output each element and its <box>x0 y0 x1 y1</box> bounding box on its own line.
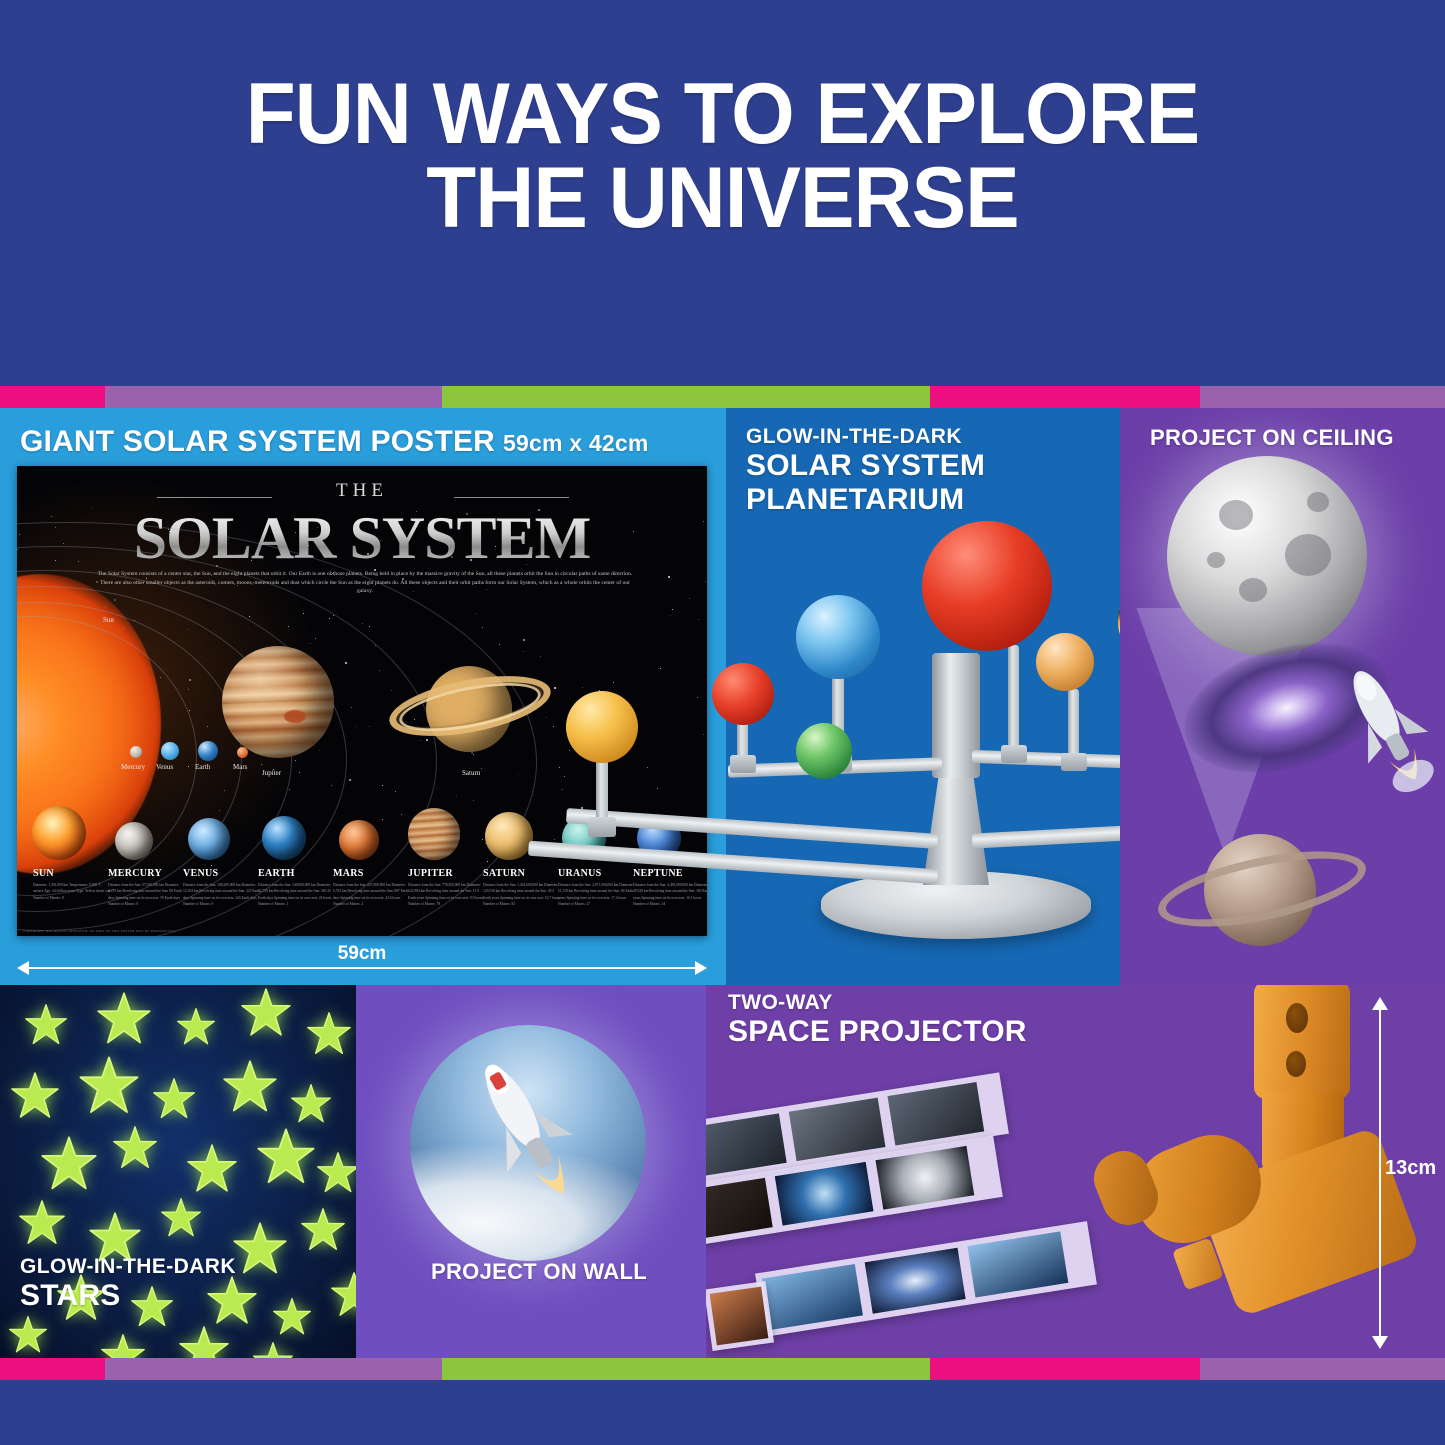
poster-panel-dimensions: 59cm x 42cm <box>503 430 648 456</box>
glow-star-icon <box>96 991 152 1047</box>
moon-crater <box>1219 500 1253 530</box>
star <box>482 627 483 628</box>
panel-space-projector: TWO-WAY SPACE PROJECTOR <box>706 985 1445 1358</box>
planet-card-description: Distance from the Sun: 2,871,000,000 km … <box>558 882 636 907</box>
star <box>475 613 476 614</box>
planet-card-description: Distance from the Sun: 778,500,000 km Di… <box>408 882 486 907</box>
model-planet-sun <box>922 521 1052 651</box>
stars-panel-header: GLOW-IN-THE-DARK STARS <box>20 1255 236 1313</box>
slide-cell <box>876 1146 975 1210</box>
stripe-segment <box>930 1358 1200 1380</box>
glow-star-icon <box>8 1315 48 1355</box>
slide-cell <box>706 1113 787 1176</box>
stripe-segment <box>105 386 442 408</box>
ceiling-moon-image <box>1167 456 1367 656</box>
glow-star-icon <box>232 1221 288 1277</box>
glow-star-icon <box>222 1059 278 1115</box>
planet-thumbnail <box>262 816 306 860</box>
slide-cell <box>967 1231 1068 1297</box>
model-planet-saturn <box>566 691 638 763</box>
product-collage: GIANT SOLAR SYSTEM POSTER59cm x 42cm THE… <box>0 408 1445 1358</box>
star <box>613 682 614 683</box>
model-planet-earth <box>796 595 880 679</box>
planet-thumbnail <box>188 818 230 860</box>
stripe-segment <box>0 386 105 408</box>
poster-copyright: COPYRIGHT. ALL RIGHTS RESERVED. NO PART … <box>23 929 176 933</box>
star <box>499 644 500 645</box>
ceiling-panel-title: PROJECT ON CEILING <box>1150 425 1394 451</box>
stripe-segment <box>442 386 930 408</box>
glow-star-icon <box>330 1271 356 1319</box>
glow-star-icon <box>186 1143 238 1195</box>
poster-planet-earth <box>198 741 218 761</box>
stripe-segment <box>0 1358 105 1380</box>
poster-label-mercury: Mercury <box>121 763 145 771</box>
projector-dial <box>1286 1003 1308 1033</box>
measure-line <box>1379 1007 1381 1339</box>
glow-star-icon <box>252 1341 294 1358</box>
glow-star-icon <box>10 1071 60 1121</box>
stars-eyebrow: GLOW-IN-THE-DARK <box>20 1255 236 1279</box>
planet-thumbnail <box>115 822 153 860</box>
stripe-segment <box>930 386 1200 408</box>
model-rod <box>1008 645 1019 757</box>
glow-star-icon <box>178 1325 230 1358</box>
planetarium-panel-header: GLOW-IN-THE-DARK SOLAR SYSTEM PLANETARIU… <box>746 425 985 516</box>
single-slide <box>706 1281 774 1351</box>
slide-cell <box>762 1264 863 1330</box>
star <box>582 687 583 688</box>
stripe-segment <box>1200 1358 1445 1380</box>
star <box>540 656 541 657</box>
glow-star-icon <box>24 1003 68 1047</box>
stripe-segment <box>1200 386 1445 408</box>
glow-star-icon <box>272 1297 312 1337</box>
model-planet-uranus <box>796 723 852 779</box>
glow-star-icon <box>300 1207 346 1253</box>
model-joint <box>1061 753 1087 771</box>
panel-solar-system-planetarium: GLOW-IN-THE-DARK SOLAR SYSTEM PLANETARIU… <box>726 408 1120 985</box>
star <box>562 789 563 790</box>
poster-label-earth: Earth <box>195 763 210 771</box>
model-joint <box>1001 745 1027 763</box>
wall-shuttle-icon <box>410 1025 646 1261</box>
poster-panel-header: GIANT SOLAR SYSTEM POSTER59cm x 42cm <box>20 425 648 459</box>
planet-card-description: Diameter: 1,392,000 km Temperature: 5,50… <box>33 882 111 901</box>
panel-project-on-wall: PROJECT ON WALL <box>356 985 706 1358</box>
glow-star-icon <box>78 1055 140 1117</box>
glow-star-icon <box>306 1011 352 1057</box>
shuttle-icon <box>1325 663 1445 793</box>
stripe-segment <box>105 1358 442 1380</box>
model-planet-mars <box>712 663 774 725</box>
glow-star-icon <box>176 1007 216 1047</box>
poster-planet-mercury <box>130 746 142 758</box>
planet-card-name: MARS <box>333 868 364 879</box>
poster-planet-jupiter <box>222 646 334 758</box>
star <box>559 767 560 768</box>
planet-card-description: Distance from the Sun: 108,200,000 km Di… <box>183 882 261 907</box>
planetarium-title-line-2: PLANETARIUM <box>746 483 985 517</box>
poster-planet-venus <box>161 742 179 760</box>
planet-thumbnail <box>339 820 379 860</box>
projector-height-value: 13cm <box>1385 1157 1436 1180</box>
poster-width-value: 59cm <box>17 943 707 965</box>
wall-panel-title: PROJECT ON WALL <box>431 1259 647 1285</box>
panel-project-on-ceiling: PROJECT ON CEILING <box>1120 408 1445 985</box>
planet-thumbnail <box>485 812 533 860</box>
moon-crater <box>1207 552 1225 568</box>
star <box>553 726 554 727</box>
star <box>564 776 565 777</box>
stripe-segment <box>442 1358 930 1380</box>
projector-panel-header: TWO-WAY SPACE PROJECTOR <box>728 991 1027 1049</box>
glow-star-icon <box>40 1135 98 1193</box>
planet-card-name: URANUS <box>558 868 601 879</box>
planet-card-description: Distance from the Sun: 149,600,000 km Di… <box>258 882 336 907</box>
planetarium-title-line-1: SOLAR SYSTEM <box>746 449 985 483</box>
projector-eyebrow: TWO-WAY <box>728 991 1027 1015</box>
slide-cell <box>789 1098 886 1161</box>
planet-card-description: Distance from the Sun: 57,910,000 km Dia… <box>108 882 186 907</box>
poster-label-mars: Mars <box>233 763 247 771</box>
model-stem <box>923 765 989 885</box>
collage-row-top: GIANT SOLAR SYSTEM POSTER59cm x 42cm THE… <box>0 408 1445 985</box>
glow-star-icon <box>152 1077 196 1121</box>
slide-cell <box>888 1082 985 1145</box>
planet-thumbnail <box>408 808 460 860</box>
glow-star-icon <box>18 1199 66 1247</box>
glow-star-icon <box>290 1083 332 1125</box>
poster-width-measure: 59cm <box>17 945 707 979</box>
model-joint <box>730 755 756 773</box>
poster-label-venus: Venus <box>156 763 173 771</box>
star <box>523 639 525 641</box>
glow-star-icon <box>316 1151 356 1195</box>
poster-kicker: THE <box>17 480 707 502</box>
planet-card-name: VENUS <box>183 868 218 879</box>
poster-label-saturn: Saturn <box>462 769 480 777</box>
top-color-stripe <box>0 386 1445 408</box>
glow-star-icon <box>160 1197 202 1239</box>
glow-star-icon <box>100 1333 146 1358</box>
star <box>546 717 547 718</box>
moon-crater <box>1239 578 1267 602</box>
star <box>569 750 570 751</box>
slide-cell <box>775 1162 874 1226</box>
slide-cell <box>865 1248 966 1314</box>
glow-star-icon <box>256 1127 316 1187</box>
slide-cell <box>706 1178 773 1242</box>
poster-panel-title: GIANT SOLAR SYSTEM POSTER <box>20 425 495 458</box>
ceiling-space-shuttle-image <box>1325 663 1445 793</box>
arrow-down-icon <box>1372 1336 1388 1349</box>
measure-line <box>27 967 697 969</box>
planet-thumbnail <box>32 806 86 860</box>
poster-label-jupiter: Jupiter <box>262 769 281 777</box>
projector-height-measure: 13cm <box>1351 997 1411 1349</box>
slide-cell <box>710 1287 769 1346</box>
stars-title: STARS <box>20 1279 236 1313</box>
planet-card-description: Distance from the Sun: 227,900,000 km Di… <box>333 882 411 907</box>
planet-card-name: EARTH <box>258 868 295 879</box>
projector-title: SPACE PROJECTOR <box>728 1015 1027 1049</box>
planet-card-name: MERCURY <box>108 868 162 879</box>
headline-line-1: FUN WAYS TO EXPLORE <box>36 72 1409 156</box>
planet-card-description: Distance from the Sun: 1,434,000,000 km … <box>483 882 561 907</box>
projector-barrel-top <box>1254 985 1350 1099</box>
bottom-color-stripe <box>0 1358 1445 1380</box>
planetarium-eyebrow: GLOW-IN-THE-DARK <box>746 425 985 449</box>
poster-planet-labels: SUNDiameter: 1,392,000 km Temperature: 5… <box>17 866 707 930</box>
panel-glow-in-the-dark-stars: GLOW-IN-THE-DARK STARS <box>0 985 356 1358</box>
jupiter-great-red-spot <box>284 710 306 723</box>
moon-crater <box>1307 492 1329 512</box>
page-headline: FUN WAYS TO EXPLORE THE UNIVERSE <box>36 72 1409 241</box>
moon-crater <box>1285 534 1331 576</box>
headline-line-2: THE UNIVERSE <box>36 156 1409 240</box>
star <box>523 651 524 652</box>
planet-card-name: JUPITER <box>408 868 453 879</box>
glow-star-icon <box>240 987 292 1039</box>
projector-dial <box>1286 1051 1306 1077</box>
collage-row-bottom: GLOW-IN-THE-DARK STARS <box>0 985 1445 1358</box>
ceiling-saturn-image <box>1162 808 1352 928</box>
slide-strip <box>755 1221 1097 1337</box>
glow-star-icon <box>112 1125 158 1171</box>
star <box>554 687 556 689</box>
planet-card-name: SATURN <box>483 868 525 879</box>
wall-projection-circle <box>410 1025 646 1261</box>
model-joint <box>588 817 616 837</box>
planet-card-name: SUN <box>33 868 54 879</box>
model-planet-venus <box>1036 633 1094 691</box>
